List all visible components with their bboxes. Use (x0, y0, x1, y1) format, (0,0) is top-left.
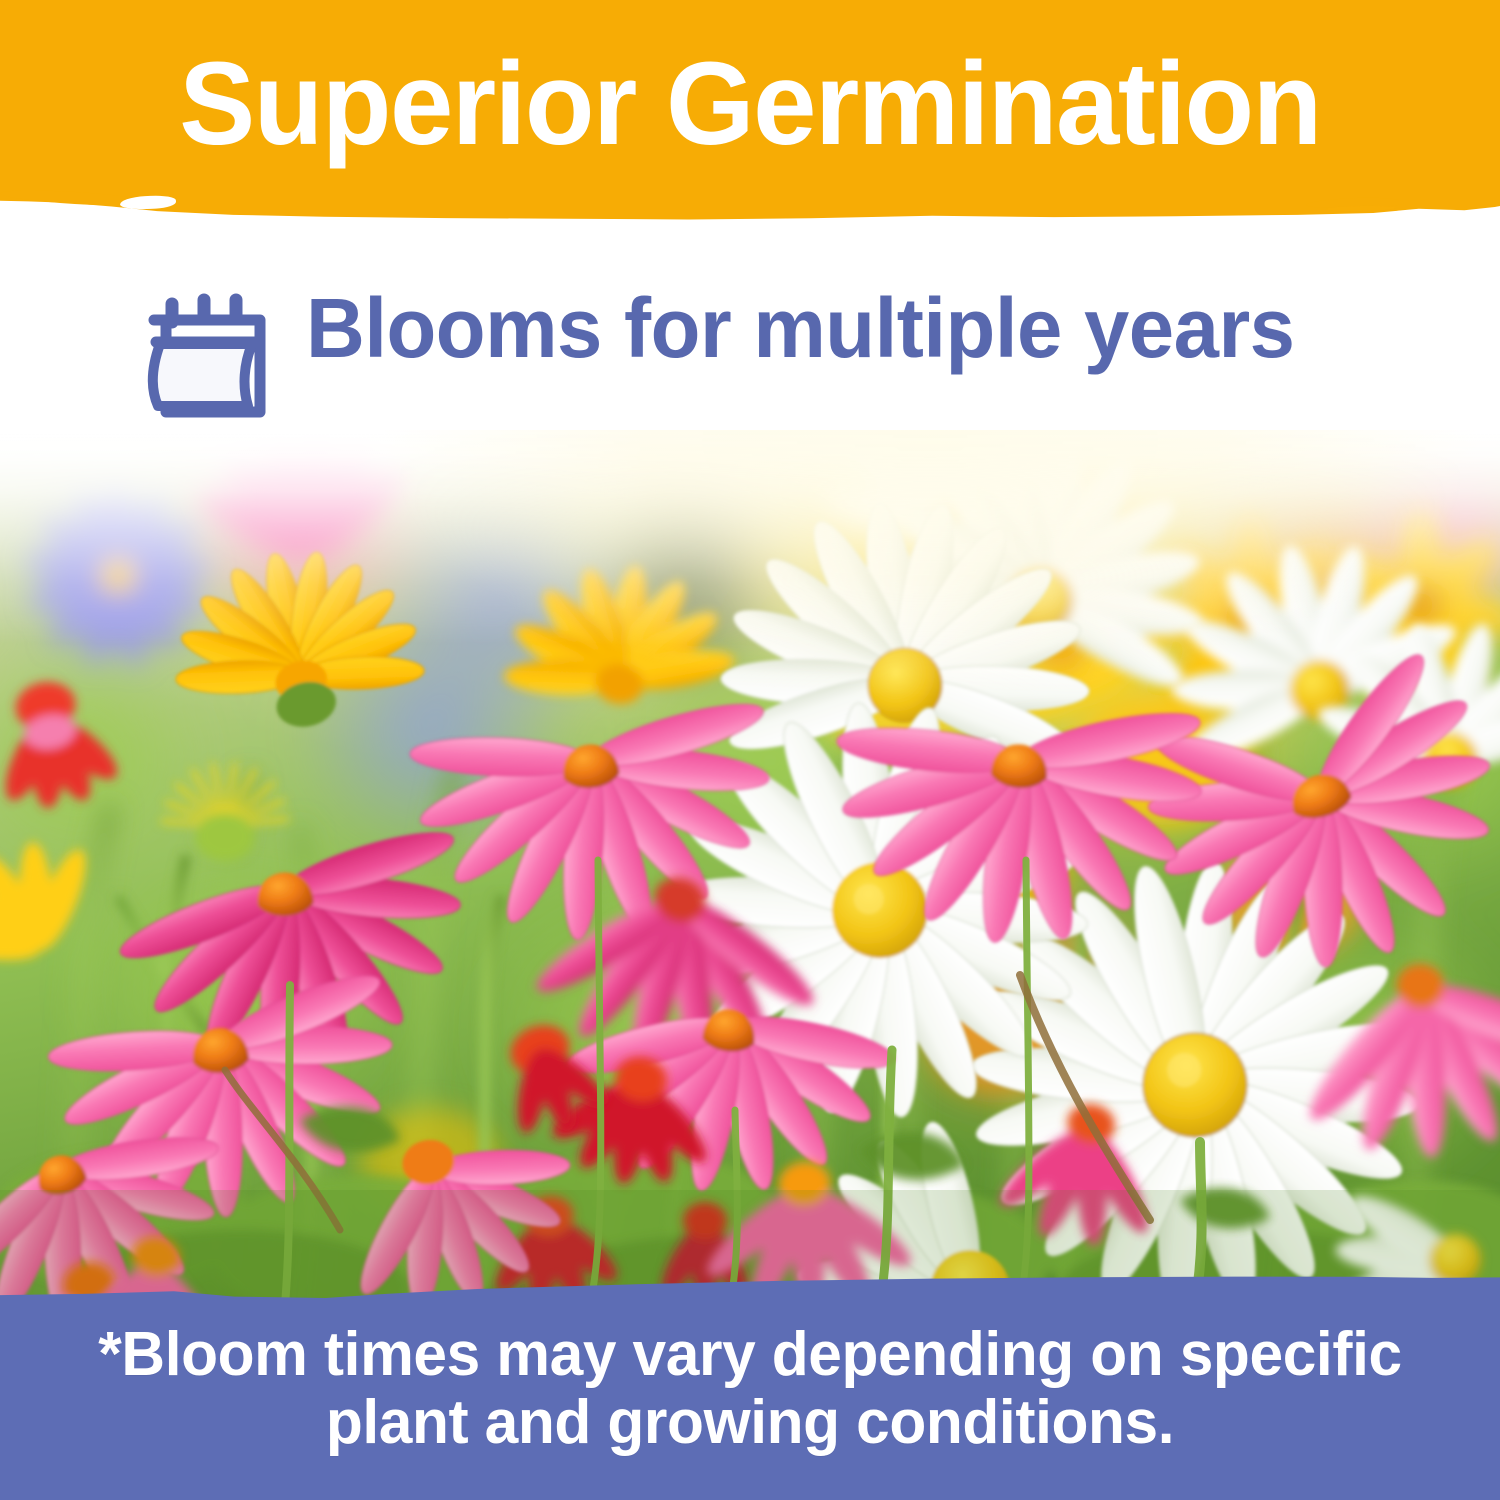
page-title: Superior Germination (26, 0, 1474, 200)
header-banner: Superior Germination (0, 0, 1500, 232)
footnote-text: *Bloom times may vary depending on speci… (19, 1321, 1482, 1457)
infographic-panel: Superior Germination (0, 0, 1500, 1500)
footnote-line-2: plant and growing conditions. (19, 1389, 1482, 1457)
wildflower-photo (0, 430, 1500, 1305)
footer-banner: *Bloom times may vary depending on speci… (0, 1275, 1500, 1500)
feature-row: Blooms for multiple years (0, 232, 1500, 437)
footnote-line-1: *Bloom times may vary depending on speci… (19, 1321, 1482, 1389)
feature-label: Blooms for multiple years (306, 286, 1295, 370)
calendar-icon (136, 282, 286, 432)
